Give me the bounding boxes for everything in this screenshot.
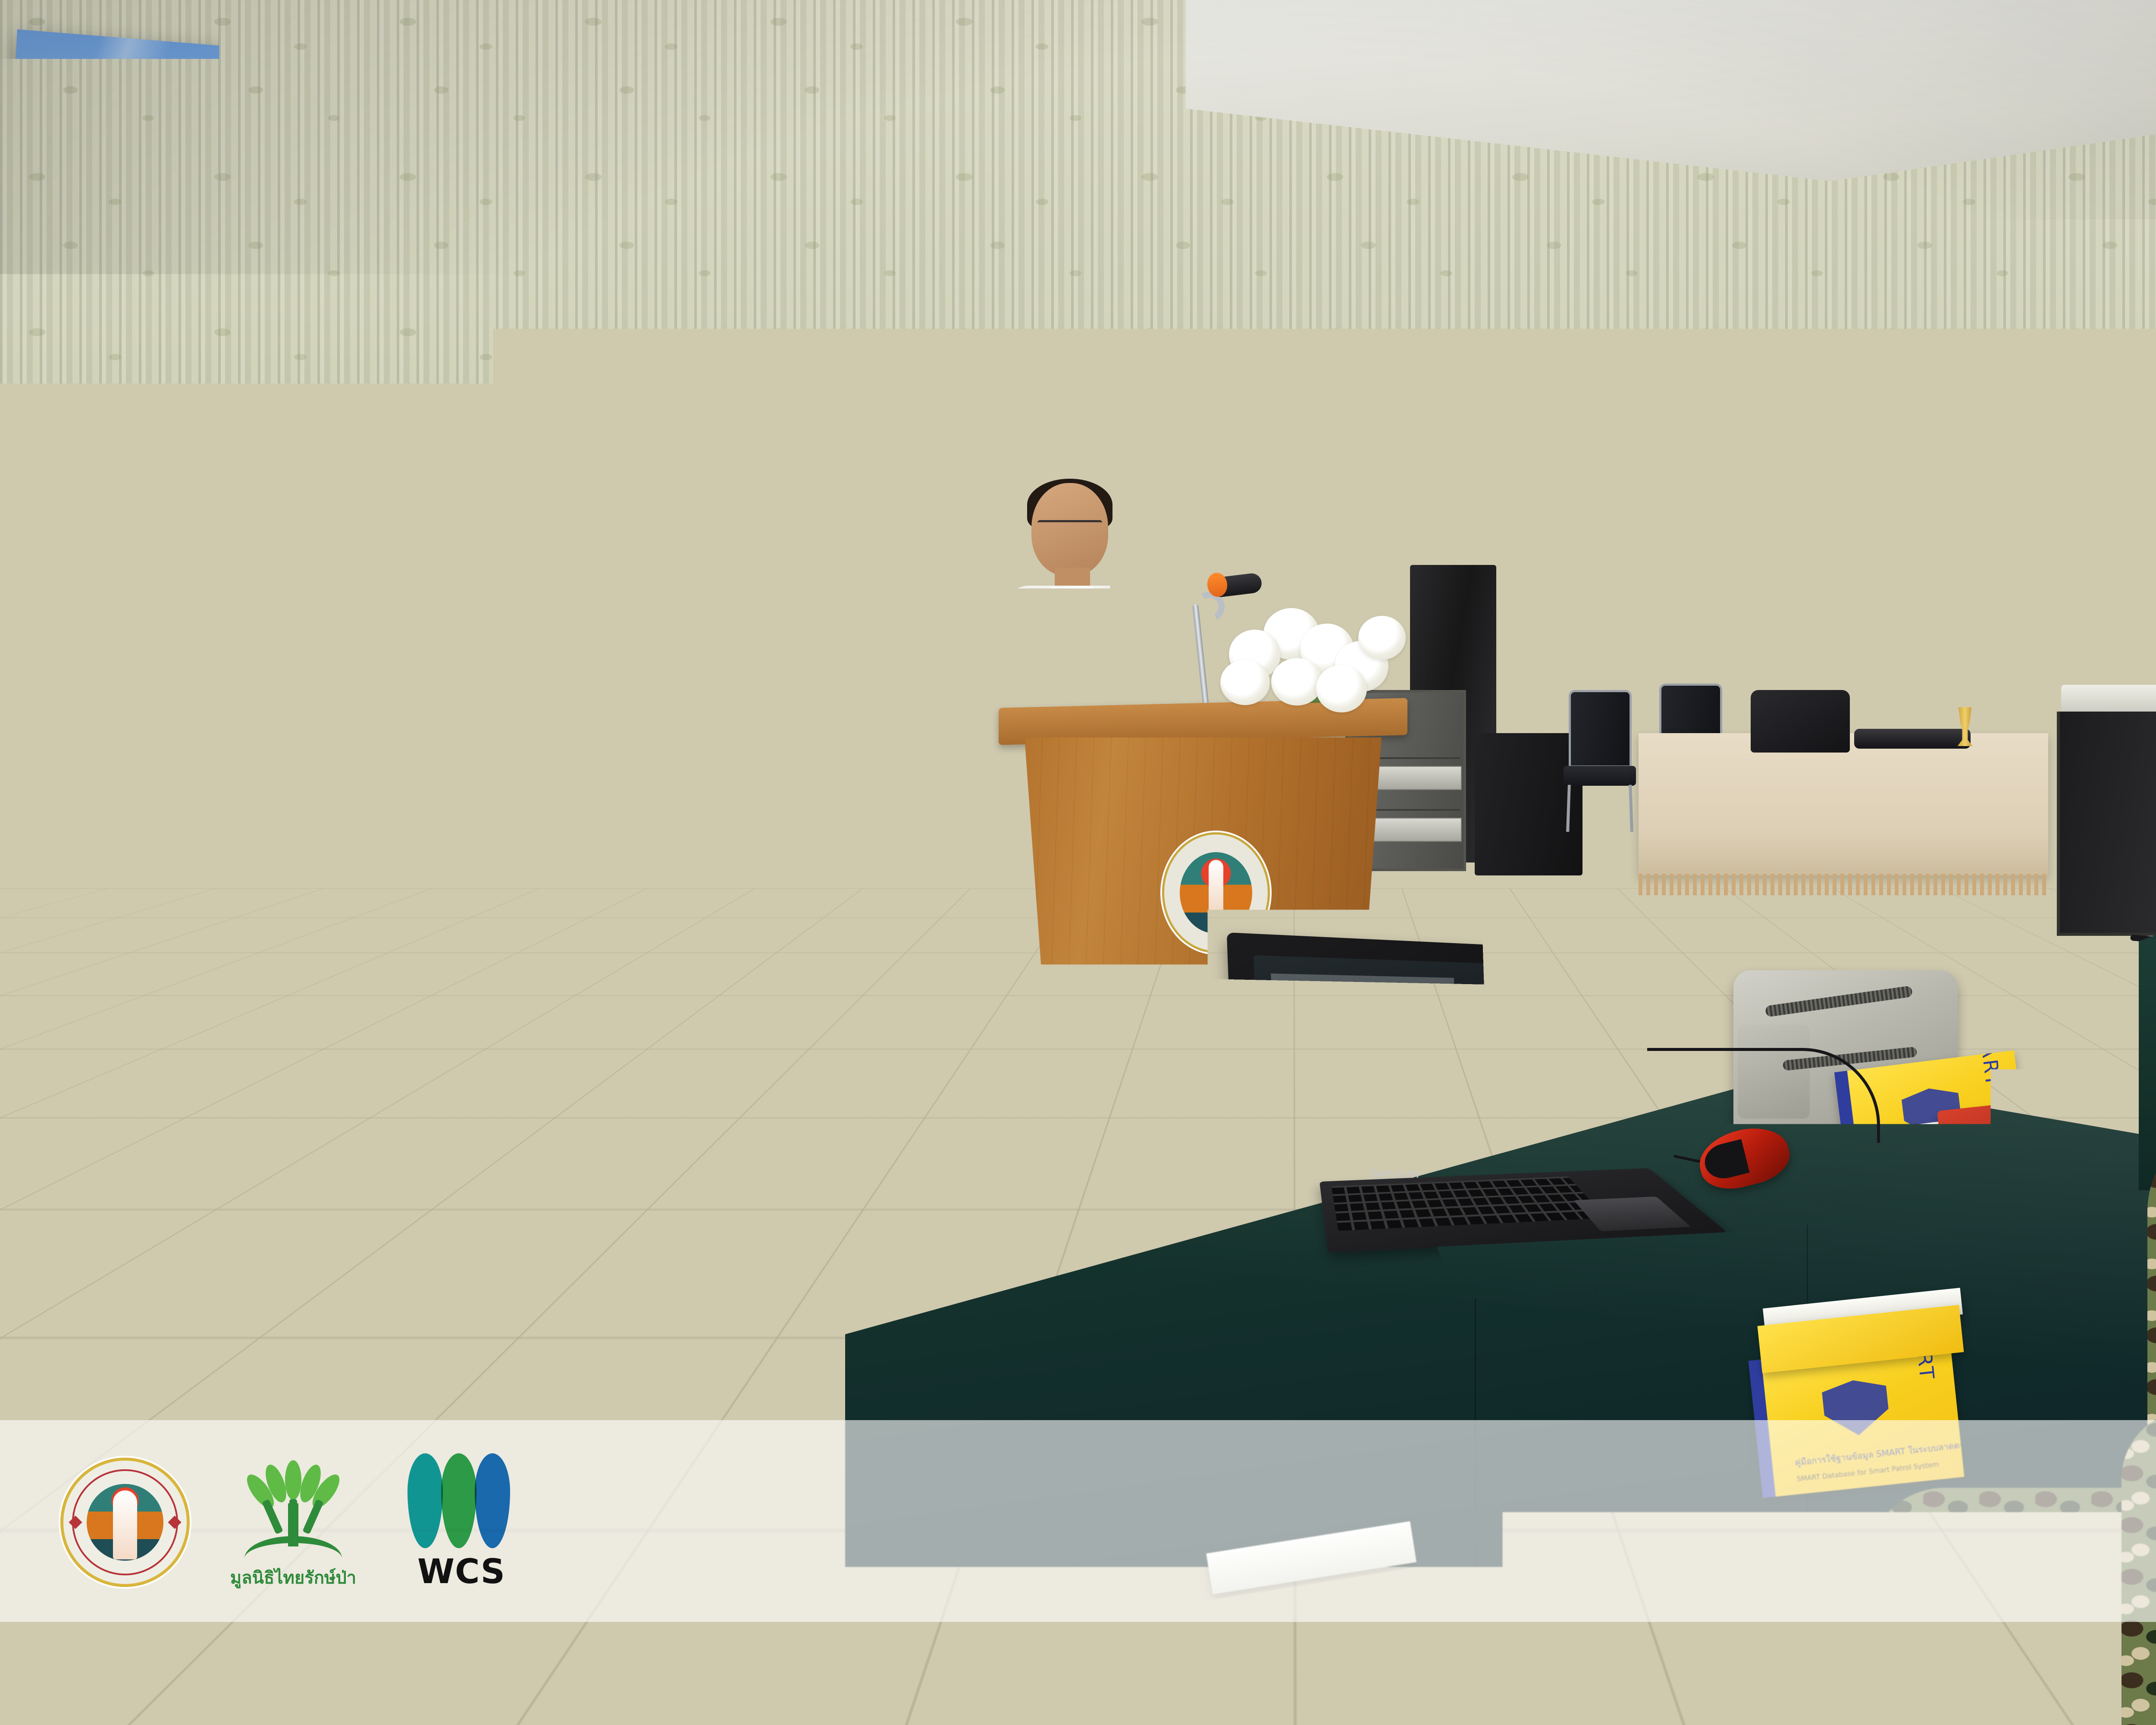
wcs-label: WCS xyxy=(417,1552,505,1591)
camera-equipment xyxy=(1854,729,1971,749)
seal-deity-figure xyxy=(113,1490,137,1559)
laptop-touchpad[interactable] xyxy=(1573,1197,1691,1232)
back-table-with-cloth xyxy=(1639,733,2048,875)
smart-wordmark: SMART xyxy=(1473,1631,1509,1694)
power-cable xyxy=(1647,1048,1880,1143)
white-flower-arrangement xyxy=(1216,604,1423,716)
laptop-screen[interactable] xyxy=(1253,955,1497,1175)
wcs-logo-icon: WCS xyxy=(397,1453,526,1591)
smart-wordmark: SMART xyxy=(1972,1050,2005,1089)
tree-mark xyxy=(248,1460,338,1559)
thai-rak-pa-label: มูลนิธิไทยรักษ์ป่า xyxy=(230,1564,356,1591)
banquet-chair xyxy=(1561,690,1639,832)
tablecloth-fringe xyxy=(1639,874,2048,895)
wcs-mark xyxy=(407,1453,515,1548)
overlay-logo-row: มูลนิธิไทยรักษ์ป่า WCS xyxy=(60,1440,526,1604)
dnp-seal-icon xyxy=(60,1458,190,1587)
speaker-collar xyxy=(1051,587,1093,610)
laptop-keyboard[interactable] xyxy=(1332,1176,1607,1231)
lenovo-laptop: lenovo xyxy=(1242,940,1673,1281)
thai-rak-pa-tree-icon: มูลนิธิไทยรักษ์ป่า xyxy=(237,1453,349,1591)
smart-shield-icon xyxy=(1306,1693,1429,1725)
adapter-led-icon xyxy=(1244,1228,1252,1236)
bag-zipper xyxy=(1765,985,1913,1017)
event-banner: โครงการประชุมเชิงปฏิบัติการเพื่อพัฒนาระบ… xyxy=(0,29,933,559)
camera-bag xyxy=(1751,690,1850,753)
eyeglasses-icon xyxy=(1037,520,1102,533)
photo-scene: โครงการประชุมเชิงปฏิบัติการเพื่อพัฒนาระบ… xyxy=(0,0,2156,1725)
banner-glare xyxy=(0,29,933,559)
